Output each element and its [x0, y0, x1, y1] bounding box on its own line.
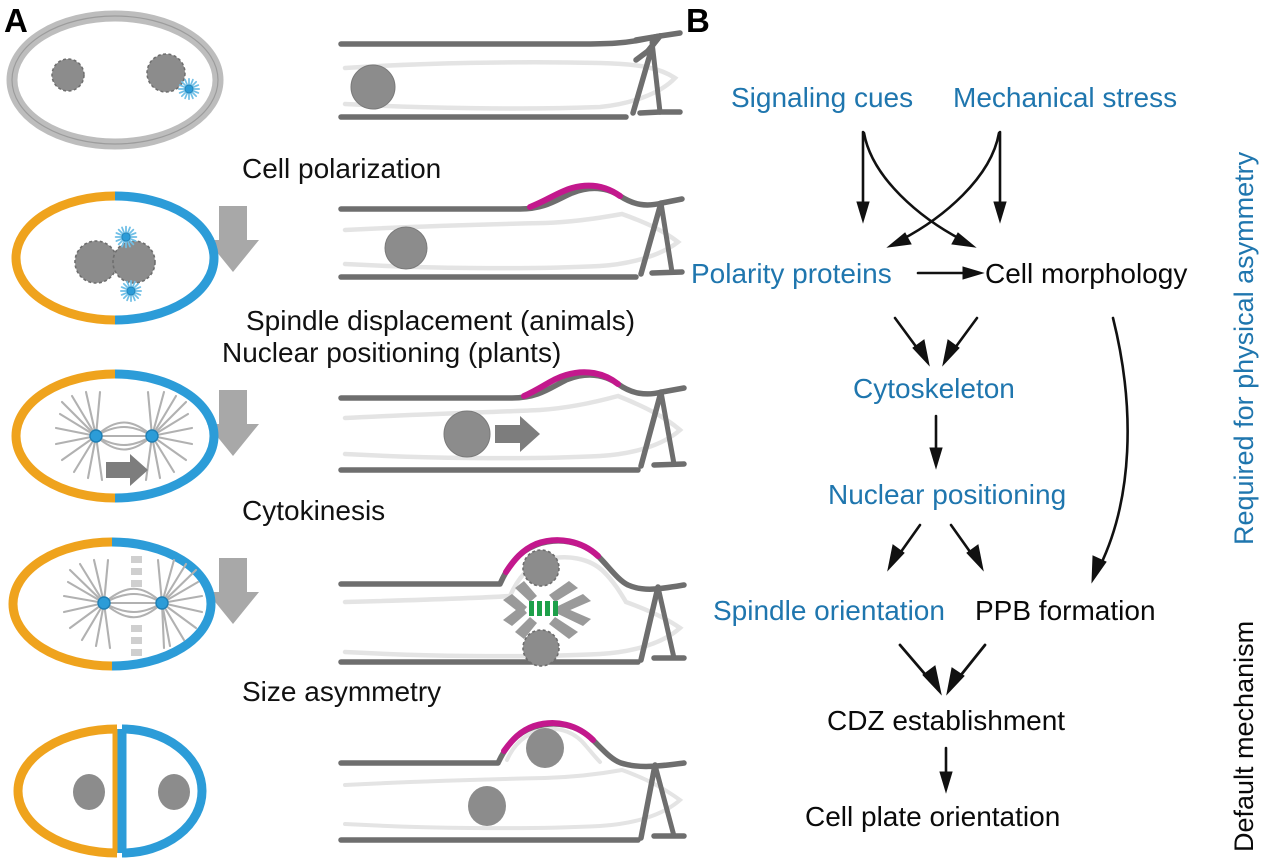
flow-node-ppb-formation[interactable]: PPB formation — [975, 597, 1156, 625]
figure-root: A B — [0, 0, 1269, 864]
side-label-required-for-physical-asymmetry: Required for physical asymmetry — [1231, 152, 1258, 545]
animal-cell-unpolarized — [12, 16, 218, 144]
animal-cell-cytokinesis — [13, 542, 211, 666]
panel-b-letter: B — [686, 4, 710, 37]
stage-label-size-asymmetry: Size asymmetry — [242, 676, 441, 707]
stage-label-nuclear-positioning: Nuclear positioning (plants) — [222, 337, 561, 368]
panel-a-diagram — [0, 0, 1269, 864]
stage-label-cell-polarization: Cell polarization — [242, 153, 441, 184]
panel-b-flowchart-arrows — [0, 0, 1269, 864]
flow-node-polarity-proteins[interactable]: Polarity proteins — [691, 260, 892, 288]
flow-node-signaling-cues[interactable]: Signaling cues — [731, 84, 913, 112]
plant-cell-polarized — [341, 186, 682, 277]
flow-node-spindle-orientation[interactable]: Spindle orientation — [713, 597, 945, 625]
plant-cell-dividing — [341, 540, 684, 666]
animal-cell-spindle-displaced — [16, 374, 214, 498]
stage-arrow-3 — [207, 558, 259, 624]
flow-node-cdz-establishment[interactable]: CDZ establishment — [827, 707, 1065, 735]
plant-cell-nucleus-migrating — [341, 372, 684, 470]
flow-node-mechanical-stress[interactable]: Mechanical stress — [953, 84, 1177, 112]
panel-a-letter: A — [4, 4, 28, 37]
stage-label-cytokinesis: Cytokinesis — [242, 495, 385, 526]
flow-node-cell-morphology[interactable]: Cell morphology — [985, 260, 1187, 288]
animal-cell-asymmetric-daughters — [18, 729, 202, 853]
plant-cell-resting — [341, 33, 680, 117]
flow-node-cytoskeleton[interactable]: Cytoskeleton — [853, 375, 1015, 403]
side-label-default-mechanism: Default mechanism — [1231, 621, 1258, 852]
animal-cell-polarized — [16, 196, 214, 320]
flow-node-nuclear-positioning[interactable]: Nuclear positioning — [828, 481, 1066, 509]
stage-arrow-1 — [207, 206, 259, 272]
plant-cell-asymmetric-daughters — [341, 723, 684, 840]
stage-label-spindle-displacement: Spindle displacement (animals) — [246, 305, 635, 336]
stage-arrow-2 — [207, 390, 259, 456]
flow-node-cell-plate-orientation[interactable]: Cell plate orientation — [805, 803, 1060, 831]
